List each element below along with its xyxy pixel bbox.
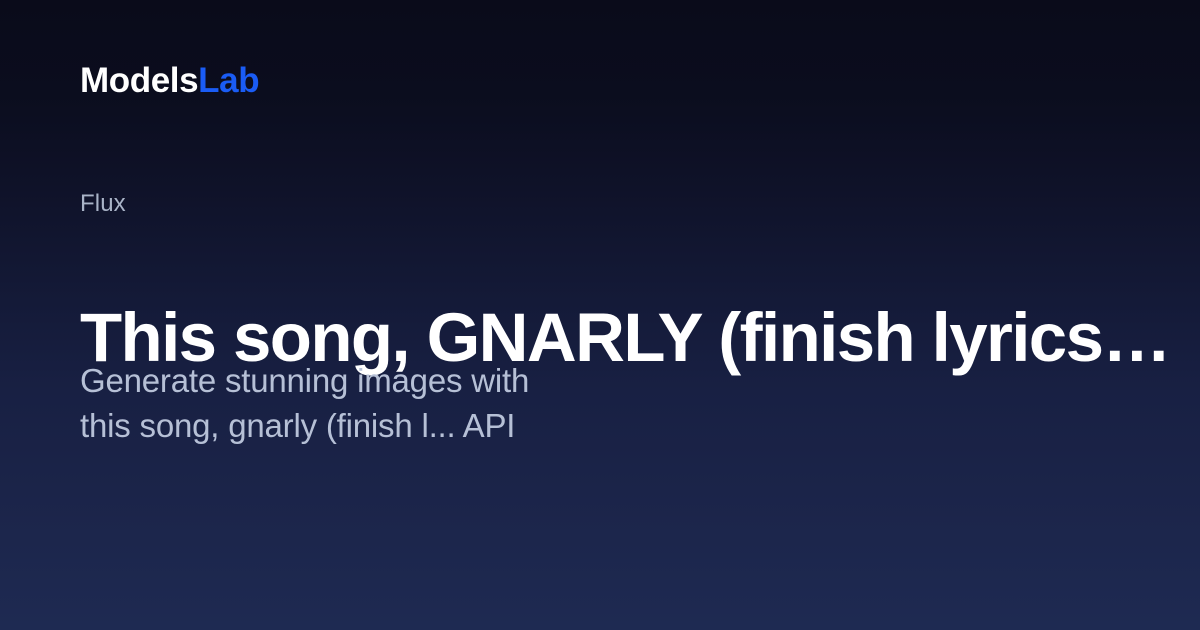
page-description: Generate stunning images with this song,… bbox=[80, 358, 720, 448]
brand-logo[interactable]: ModelsLab bbox=[80, 63, 259, 98]
page-description-line-1: Generate stunning images with bbox=[80, 358, 720, 403]
brand-logo-primary: Models bbox=[80, 61, 198, 100]
page-description-line-2: this song, gnarly (finish l... API bbox=[80, 403, 720, 448]
model-category-label: Flux bbox=[80, 191, 126, 217]
card-content: ModelsLab Flux This song, GNARLY (finish… bbox=[80, 0, 1200, 630]
og-preview-card: ModelsLab Flux This song, GNARLY (finish… bbox=[0, 0, 1200, 630]
brand-logo-accent: Lab bbox=[198, 61, 259, 100]
